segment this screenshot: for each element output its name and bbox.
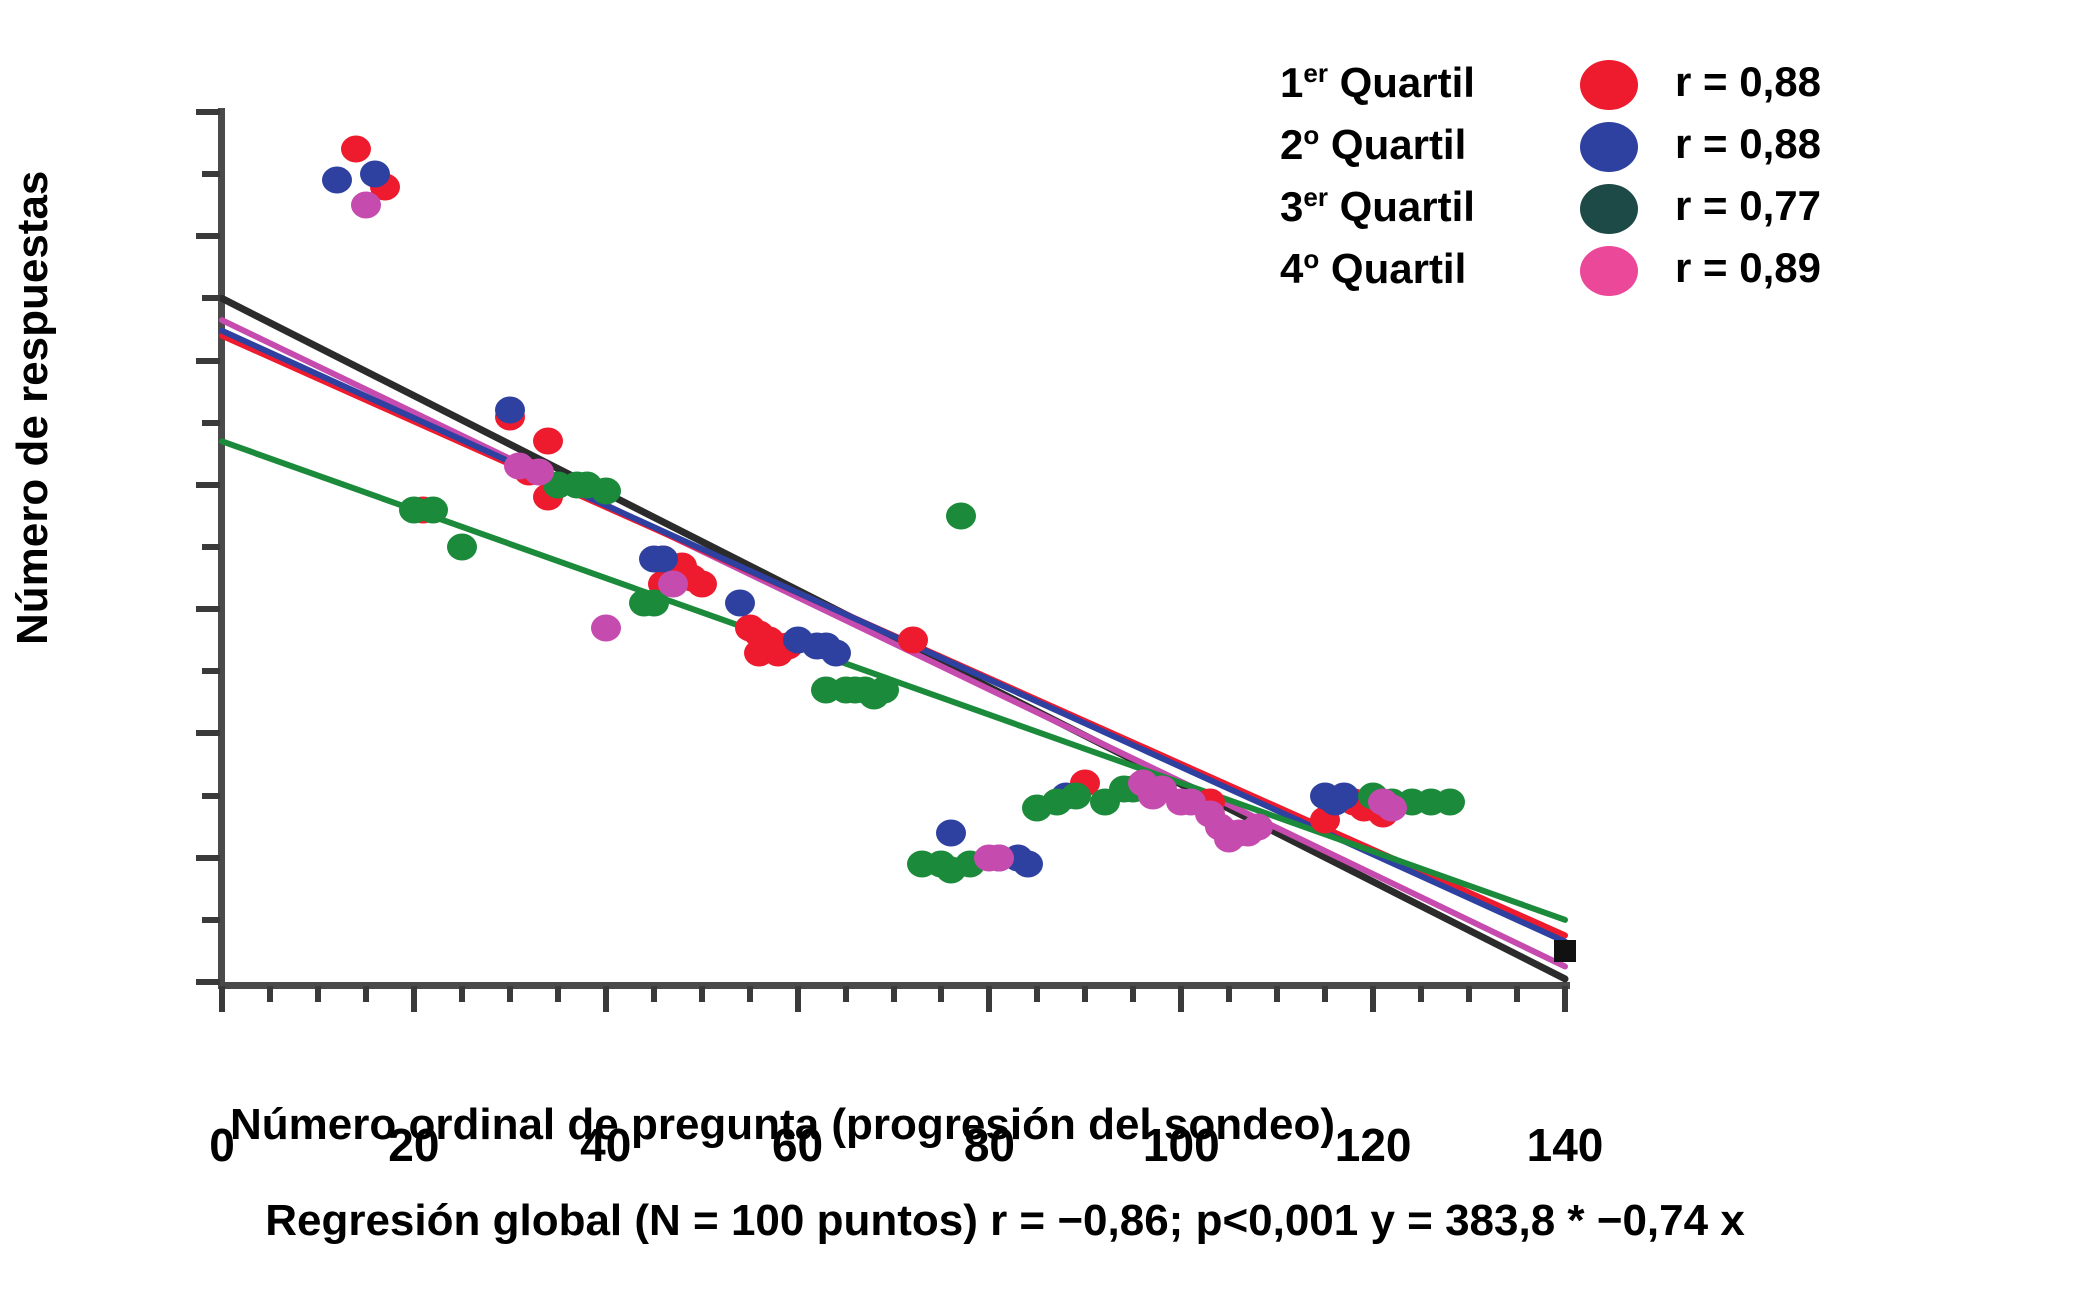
legend-item-4[interactable]: 4o Quartilr = 0,89 (1280, 244, 1920, 304)
data-point (524, 459, 554, 486)
y-tick-minor (202, 544, 220, 550)
legend-item-2[interactable]: 2o Quartilr = 0,88 (1280, 120, 1920, 180)
legend-ordinal-superscript: o (1303, 120, 1319, 150)
data-point (341, 136, 371, 163)
y-tick-major (196, 109, 220, 115)
data-point (898, 627, 928, 654)
data-point (658, 571, 688, 598)
x-tick-minor (1274, 986, 1280, 1002)
x-tick-minor (1514, 986, 1520, 1002)
x-tick-major (986, 986, 992, 1012)
data-point (1243, 813, 1273, 840)
legend-item-1[interactable]: 1er Quartilr = 0,88 (1280, 58, 1920, 118)
legend-color-dot-icon (1580, 122, 1638, 172)
regression-caption: Regresión global (N = 100 puntos) r = −0… (0, 1196, 2010, 1246)
y-tick-major (196, 979, 220, 985)
legend-item-label: 1er Quartil (1280, 58, 1520, 107)
x-tick-minor (459, 986, 465, 1002)
x-tick-minor (938, 986, 944, 1002)
data-point (447, 534, 477, 561)
x-tick-minor (315, 986, 321, 1002)
y-tick-major (196, 855, 220, 861)
legend-correlation-value: r = 0,88 (1675, 120, 1821, 168)
y-tick-major (196, 482, 220, 488)
x-tick-major (219, 986, 225, 1012)
data-point (322, 167, 352, 194)
legend-correlation-value: r = 0,77 (1675, 182, 1821, 230)
data-point (495, 397, 525, 424)
legend-item-3[interactable]: 3er Quartilr = 0,77 (1280, 182, 1920, 242)
legend-ordinal-superscript: o (1303, 244, 1319, 274)
data-point (1435, 788, 1465, 815)
legend-color-dot-icon (1580, 184, 1638, 234)
data-point (984, 844, 1014, 871)
y-tick-major (196, 233, 220, 239)
data-point (351, 192, 381, 219)
data-point (946, 502, 976, 529)
x-tick-minor (267, 986, 273, 1002)
data-point (1377, 795, 1407, 822)
y-tick-major (196, 358, 220, 364)
x-tick-minor (1466, 986, 1472, 1002)
data-point (821, 639, 851, 666)
x-tick-minor (1226, 986, 1232, 1002)
x-tick-minor (651, 986, 657, 1002)
legend-item-label: 4o Quartil (1280, 244, 1520, 293)
x-tick-minor (1130, 986, 1136, 1002)
legend-item-label: 2o Quartil (1280, 120, 1520, 169)
y-tick-minor (202, 917, 220, 923)
figure-root: Número de respuestas 2803003203403603804… (0, 0, 2085, 1291)
data-point (591, 478, 621, 505)
data-point (1138, 782, 1168, 809)
y-tick-minor (202, 295, 220, 301)
x-tick-minor (843, 986, 849, 1002)
endpoint-square-marker (1554, 940, 1576, 962)
data-point (591, 614, 621, 641)
x-tick-minor (699, 986, 705, 1002)
x-tick-major (1370, 986, 1376, 1012)
y-tick-major (196, 730, 220, 736)
legend: 1er Quartilr = 0,882o Quartilr = 0,883er… (1280, 58, 1920, 306)
x-tick-minor (747, 986, 753, 1002)
legend-item-label: 3er Quartil (1280, 182, 1520, 231)
data-point (1214, 826, 1244, 853)
y-axis-title: Número de respuestas (8, 171, 58, 645)
data-point (1013, 850, 1043, 877)
data-point (1061, 782, 1091, 809)
data-point (533, 428, 563, 455)
x-tick-major (1178, 986, 1184, 1012)
x-tick-minor (363, 986, 369, 1002)
x-tick-minor (507, 986, 513, 1002)
x-axis-title: Número ordinal de pregunta (progresión d… (0, 1100, 1565, 1150)
y-tick-minor (202, 171, 220, 177)
x-tick-minor (555, 986, 561, 1002)
legend-color-dot-icon (1580, 246, 1638, 296)
data-point (648, 546, 678, 573)
y-tick-major (196, 606, 220, 612)
x-tick-major (795, 986, 801, 1012)
x-tick-major (411, 986, 417, 1012)
data-point (360, 161, 390, 188)
trendline-4o-quartil (222, 320, 1565, 966)
y-tick-minor (202, 668, 220, 674)
x-tick-minor (1082, 986, 1088, 1002)
x-tick-minor (1034, 986, 1040, 1002)
legend-color-dot-icon (1580, 60, 1638, 110)
legend-ordinal-superscript: er (1303, 58, 1328, 88)
data-point (1310, 782, 1340, 809)
x-tick-minor (891, 986, 897, 1002)
legend-correlation-value: r = 0,89 (1675, 244, 1821, 292)
data-point (725, 589, 755, 616)
x-tick-minor (1418, 986, 1424, 1002)
legend-ordinal-superscript: er (1303, 182, 1328, 212)
legend-correlation-value: r = 0,88 (1675, 58, 1821, 106)
x-tick-major (603, 986, 609, 1012)
data-point (687, 571, 717, 598)
y-tick-minor (202, 420, 220, 426)
x-tick-major (1562, 986, 1568, 1012)
data-point (869, 676, 899, 703)
y-tick-minor (202, 793, 220, 799)
x-tick-minor (1322, 986, 1328, 1002)
data-point (936, 819, 966, 846)
data-point (418, 496, 448, 523)
